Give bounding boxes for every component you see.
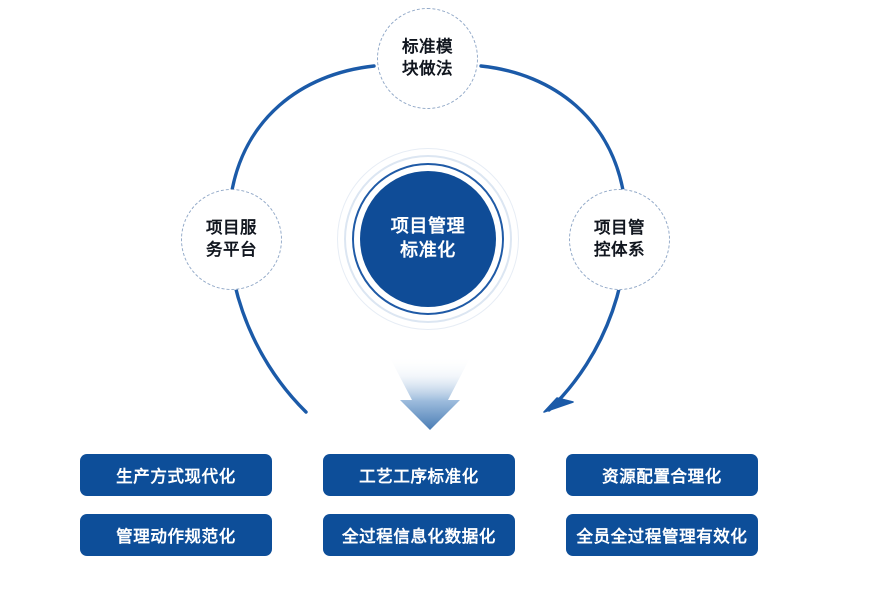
outcome-box[interactable]: 生产方式现代化 — [80, 454, 272, 496]
satellite-label-left: 项目服 务平台 — [206, 218, 257, 262]
satellite-node-right[interactable]: 项目管 控体系 — [569, 189, 670, 290]
outcome-box[interactable]: 工艺工序标准化 — [323, 454, 515, 496]
satellite-label-top: 标准模 块做法 — [402, 37, 453, 81]
outcome-box-label: 生产方式现代化 — [116, 463, 236, 487]
outcome-box-label: 全过程信息化数据化 — [342, 523, 496, 547]
core-circle: 项目管理 标准化 — [337, 148, 519, 330]
outcome-box[interactable]: 管理动作规范化 — [80, 514, 272, 556]
outcome-box[interactable]: 资源配置合理化 — [566, 454, 758, 496]
satellite-node-left[interactable]: 项目服 务平台 — [181, 189, 282, 290]
outcome-box[interactable]: 全过程信息化数据化 — [323, 514, 515, 556]
core-disc: 项目管理 标准化 — [360, 171, 496, 307]
arc-arrowhead-icon — [544, 398, 573, 412]
outcome-box[interactable]: 全员全过程管理有效化 — [566, 514, 758, 556]
outcome-box-label: 工艺工序标准化 — [359, 463, 479, 487]
diagram-canvas: 项目管理 标准化 标准模 块做法 项目服 务平台 项目管 控体系 生产方式现代化… — [0, 0, 884, 590]
down-arrow-icon — [388, 356, 472, 432]
satellite-label-right: 项目管 控体系 — [594, 218, 645, 262]
outcome-box-label: 资源配置合理化 — [602, 463, 722, 487]
satellite-node-top[interactable]: 标准模 块做法 — [377, 8, 478, 109]
outcome-box-label: 管理动作规范化 — [116, 523, 236, 547]
outcome-box-label: 全员全过程管理有效化 — [577, 523, 748, 547]
core-label: 项目管理 标准化 — [391, 215, 465, 263]
